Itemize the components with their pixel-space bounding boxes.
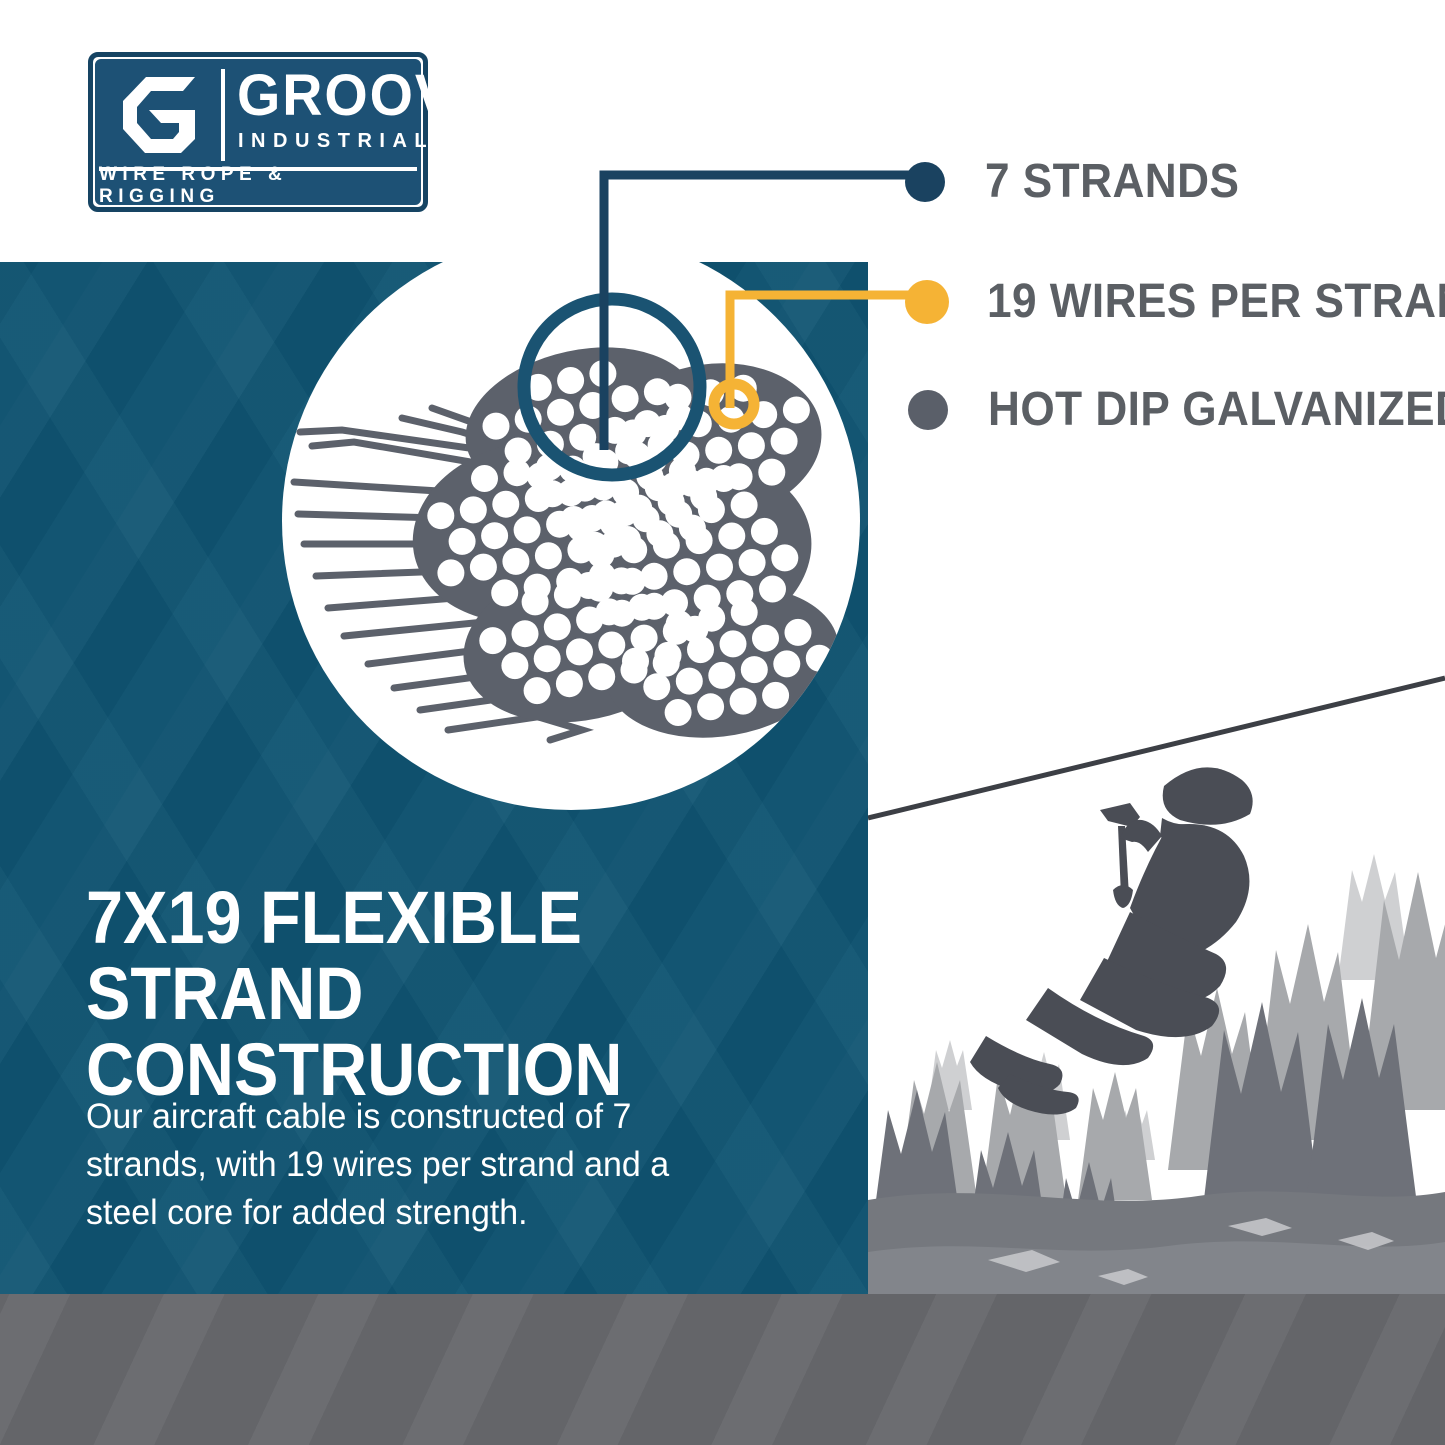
callout-label: HOT DIP GALVANIZED [988, 382, 1445, 437]
callout-19-wires-per-strand[interactable]: 19 WIRES PER STRAND [905, 274, 1445, 329]
ground-layer [868, 1191, 1445, 1294]
amber-connector-line [730, 295, 920, 408]
page-title-line-1: 7X19 FLEXIBLE [86, 876, 582, 959]
callout-dot-gray-icon [908, 390, 948, 430]
logo-name: GROOVE [237, 67, 493, 125]
logo-mark-cell [99, 63, 221, 167]
logo-inner-plate: GROOVE INDUSTRIAL WIRE ROPE & RIGGING [95, 59, 421, 205]
bottom-bar-stripes [0, 1294, 1445, 1445]
groove-g-mark-icon [121, 77, 201, 153]
logo-wordmark: GROOVE INDUSTRIAL [225, 63, 417, 167]
callout-label: 7 STRANDS [985, 154, 1239, 209]
logo-tagline-band: WIRE ROPE & RIGGING [99, 171, 417, 201]
callout-dot-navy-icon [905, 162, 945, 202]
logo-top-band: GROOVE INDUSTRIAL [99, 63, 417, 167]
page-title: 7X19 FLEXIBLE STRAND CONSTRUCTION [86, 880, 770, 1108]
navy-connector-line [604, 175, 920, 450]
callout-dot-amber-icon [905, 280, 949, 324]
zipline-forest-scene [868, 640, 1445, 1294]
page-title-line-2: STRAND CONSTRUCTION [86, 956, 770, 1108]
callout-7-strands[interactable]: 7 STRANDS [905, 154, 1262, 209]
bottom-gray-bar [0, 1294, 1445, 1445]
brand-logo[interactable]: GROOVE INDUSTRIAL WIRE ROPE & RIGGING [88, 52, 428, 212]
logo-tagline: WIRE ROPE & RIGGING [99, 164, 417, 208]
logo-subtitle: INDUSTRIAL [238, 131, 434, 151]
description-paragraph: Our aircraft cable is constructed of 7 s… [86, 1093, 726, 1237]
callout-label: 19 WIRES PER STRAND [987, 274, 1445, 329]
infographic-canvas: GROOVE INDUSTRIAL WIRE ROPE & RIGGING [0, 0, 1445, 1445]
callout-hot-dip-galvanized[interactable]: HOT DIP GALVANIZED [908, 382, 1445, 437]
